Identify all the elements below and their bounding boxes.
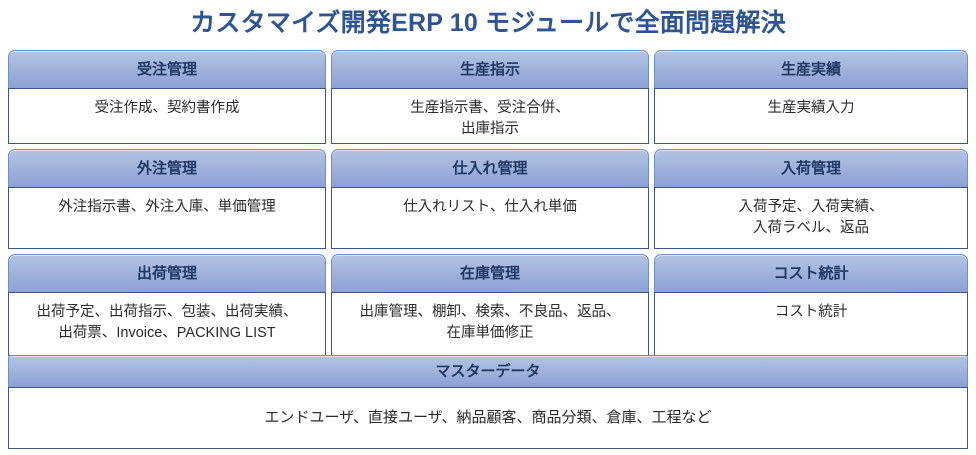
- module-row-2: 外注管理 外注指示書、外注入庫、単価管理 仕入れ管理 仕入れリスト、仕入れ単価 …: [8, 149, 968, 249]
- page-title: カスタマイズ開発ERP 10 モジュールで全面問題解決: [0, 6, 976, 40]
- module-body: 受注作成、契約書作成: [8, 88, 326, 144]
- module-header: 仕入れ管理: [331, 149, 649, 187]
- module-card-shukka-kanri[interactable]: 出荷管理 出荷予定、出荷指示、包装、出荷実績、 出荷票、Invoice、PACK…: [8, 254, 326, 356]
- module-body-line: コスト統計: [661, 302, 961, 323]
- module-header: 外注管理: [8, 149, 326, 187]
- module-body-line: 出荷票、Invoice、PACKING LIST: [15, 323, 319, 344]
- module-body: 生産指示書、受注合併、 出庫指示: [331, 88, 649, 144]
- master-data-body: エンドユーザ、直接ユーザ、納品顧客、商品分類、倉庫、工程など: [8, 387, 968, 449]
- module-header: 入荷管理: [654, 149, 968, 187]
- module-body-line: 入荷予定、入荷実績、: [661, 197, 961, 218]
- module-card-seisan-jisseki[interactable]: 生産実績 生産実績入力: [654, 50, 968, 144]
- module-card-seisan-shiji[interactable]: 生産指示 生産指示書、受注合併、 出庫指示: [331, 50, 649, 144]
- module-body-line: 出荷予定、出荷指示、包装、出荷実績、: [15, 302, 319, 323]
- module-header: 生産指示: [331, 50, 649, 88]
- module-body: 生産実績入力: [654, 88, 968, 144]
- master-data-header: マスターデータ: [8, 355, 968, 387]
- module-body-line: 生産指示書、受注合併、: [338, 98, 642, 119]
- module-body-line: 出庫管理、棚卸、検索、不良品、返品、: [338, 302, 642, 323]
- module-body: 出荷予定、出荷指示、包装、出荷実績、 出荷票、Invoice、PACKING L…: [8, 292, 326, 356]
- module-body: 外注指示書、外注入庫、単価管理: [8, 187, 326, 249]
- module-row-1: 受注管理 受注作成、契約書作成 生産指示 生産指示書、受注合併、 出庫指示 生産…: [8, 50, 968, 144]
- module-body: 入荷予定、入荷実績、 入荷ラベル、返品: [654, 187, 968, 249]
- module-body-line: 受注作成、契約書作成: [15, 98, 319, 119]
- module-card-nyuka-kanri[interactable]: 入荷管理 入荷予定、入荷実績、 入荷ラベル、返品: [654, 149, 968, 249]
- module-grid: 受注管理 受注作成、契約書作成 生産指示 生産指示書、受注合併、 出庫指示 生産…: [8, 50, 968, 361]
- module-body-line: 在庫単価修正: [338, 323, 642, 344]
- module-body-line: 外注指示書、外注入庫、単価管理: [15, 197, 319, 218]
- module-card-juchu-kanri[interactable]: 受注管理 受注作成、契約書作成: [8, 50, 326, 144]
- module-card-zaiko-kanri[interactable]: 在庫管理 出庫管理、棚卸、検索、不良品、返品、 在庫単価修正: [331, 254, 649, 356]
- module-header: 出荷管理: [8, 254, 326, 292]
- module-body: コスト統計: [654, 292, 968, 356]
- module-card-shiire-kanri[interactable]: 仕入れ管理 仕入れリスト、仕入れ単価: [331, 149, 649, 249]
- module-body-line: 出庫指示: [338, 119, 642, 140]
- module-header: 在庫管理: [331, 254, 649, 292]
- module-header: コスト統計: [654, 254, 968, 292]
- module-header: 受注管理: [8, 50, 326, 88]
- module-row-3: 出荷管理 出荷予定、出荷指示、包装、出荷実績、 出荷票、Invoice、PACK…: [8, 254, 968, 356]
- module-body: 出庫管理、棚卸、検索、不良品、返品、 在庫単価修正: [331, 292, 649, 356]
- module-body-line: 生産実績入力: [661, 98, 961, 119]
- module-card-gaichu-kanri[interactable]: 外注管理 外注指示書、外注入庫、単価管理: [8, 149, 326, 249]
- module-card-cost-tokei[interactable]: コスト統計 コスト統計: [654, 254, 968, 356]
- module-body: 仕入れリスト、仕入れ単価: [331, 187, 649, 249]
- module-card-master-data[interactable]: マスターデータ エンドユーザ、直接ユーザ、納品顧客、商品分類、倉庫、工程など: [8, 355, 968, 449]
- module-body-line: 仕入れリスト、仕入れ単価: [338, 197, 642, 218]
- erp-module-diagram: カスタマイズ開発ERP 10 モジュールで全面問題解決 受注管理 受注作成、契約…: [0, 0, 976, 455]
- module-header: 生産実績: [654, 50, 968, 88]
- module-body-line: 入荷ラベル、返品: [661, 218, 961, 239]
